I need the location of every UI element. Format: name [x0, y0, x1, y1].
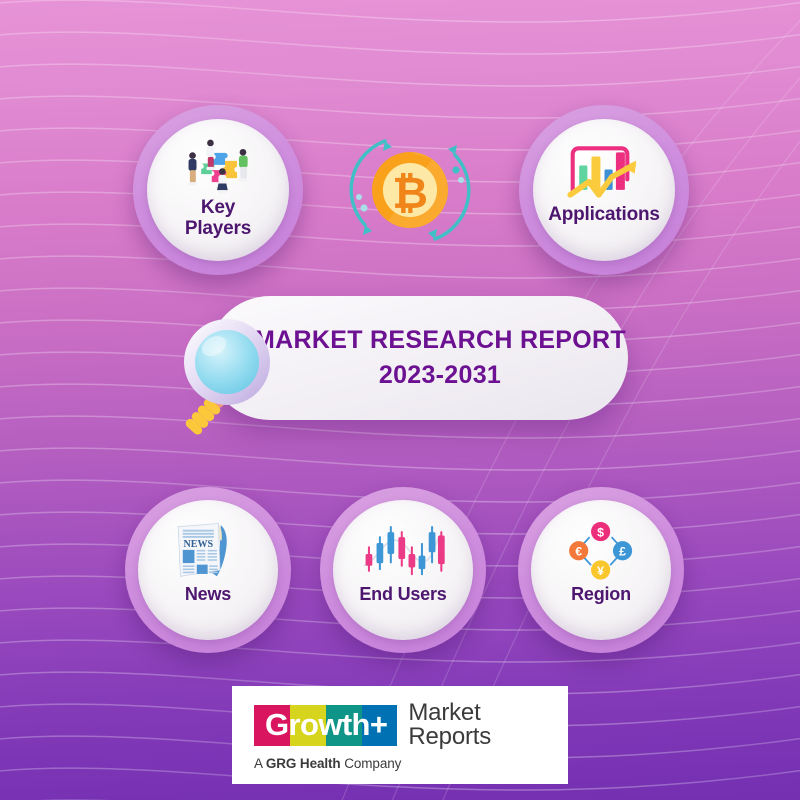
- badge-face: $ € £ ¥ Region: [531, 500, 670, 639]
- newspaper-masthead: NEWS: [184, 539, 214, 550]
- badge-face: Key Players: [147, 119, 290, 262]
- svg-text:$: $: [598, 525, 605, 539]
- report-title-line1: MARKET RESEARCH REPORT: [254, 326, 626, 355]
- logo-tagline-bold: GRG Health: [266, 756, 341, 771]
- badge-face: NEWS News: [138, 500, 277, 639]
- badge-face: End Users: [333, 500, 472, 639]
- badge-label: News: [185, 585, 231, 604]
- currency-network-icon: $ € £ ¥: [556, 522, 645, 581]
- badge-label: End Users: [359, 585, 446, 604]
- badge-label: Applications: [548, 205, 660, 226]
- candlestick-chart-icon: [358, 522, 447, 581]
- brand-logo: Growth+ Market Reports A GRG Health Comp…: [232, 686, 568, 784]
- magnifying-glass-icon: [172, 312, 297, 447]
- report-title-line2: 2023-2031: [379, 361, 501, 390]
- logo-tagline: A GRG Health Company: [254, 756, 552, 771]
- badge-end-users[interactable]: End Users: [320, 487, 486, 653]
- badge-key-players[interactable]: Key Players: [133, 105, 303, 275]
- bar-chart-growth-icon: [558, 141, 649, 201]
- svg-text:¥: ¥: [598, 564, 605, 578]
- logo-name-line2: Reports: [408, 725, 491, 749]
- logo-wordmark: Growth+: [265, 709, 387, 740]
- logo-primary-row: Growth+ Market Reports: [254, 701, 552, 750]
- svg-text:€: €: [576, 544, 583, 558]
- logo-name: Market Reports: [408, 701, 491, 750]
- currency-gbp: £: [613, 541, 632, 560]
- badge-region[interactable]: $ € £ ¥ Region: [518, 487, 684, 653]
- bitcoin-symbol: ₿: [392, 169, 428, 218]
- team-puzzle-icon: [167, 137, 270, 194]
- newspaper-icon: NEWS: [163, 522, 252, 581]
- currency-usd: $: [591, 522, 610, 541]
- badge-applications[interactable]: Applications: [519, 105, 689, 275]
- growth-plus-wordmark-block: Growth+: [254, 705, 397, 746]
- currency-eur: €: [569, 541, 588, 560]
- badge-label: Region: [571, 585, 631, 604]
- currency-jpy: ¥: [591, 560, 610, 579]
- badge-label: Key Players: [185, 198, 251, 239]
- logo-name-line1: Market: [408, 701, 491, 725]
- bitcoin-coin-icon: ₿: [338, 118, 482, 262]
- svg-text:£: £: [619, 544, 626, 558]
- logo-tagline-prefix: A: [254, 756, 266, 771]
- logo-tagline-suffix: Company: [341, 756, 402, 771]
- badge-news[interactable]: NEWS News: [125, 487, 291, 653]
- badge-face: Applications: [533, 119, 676, 262]
